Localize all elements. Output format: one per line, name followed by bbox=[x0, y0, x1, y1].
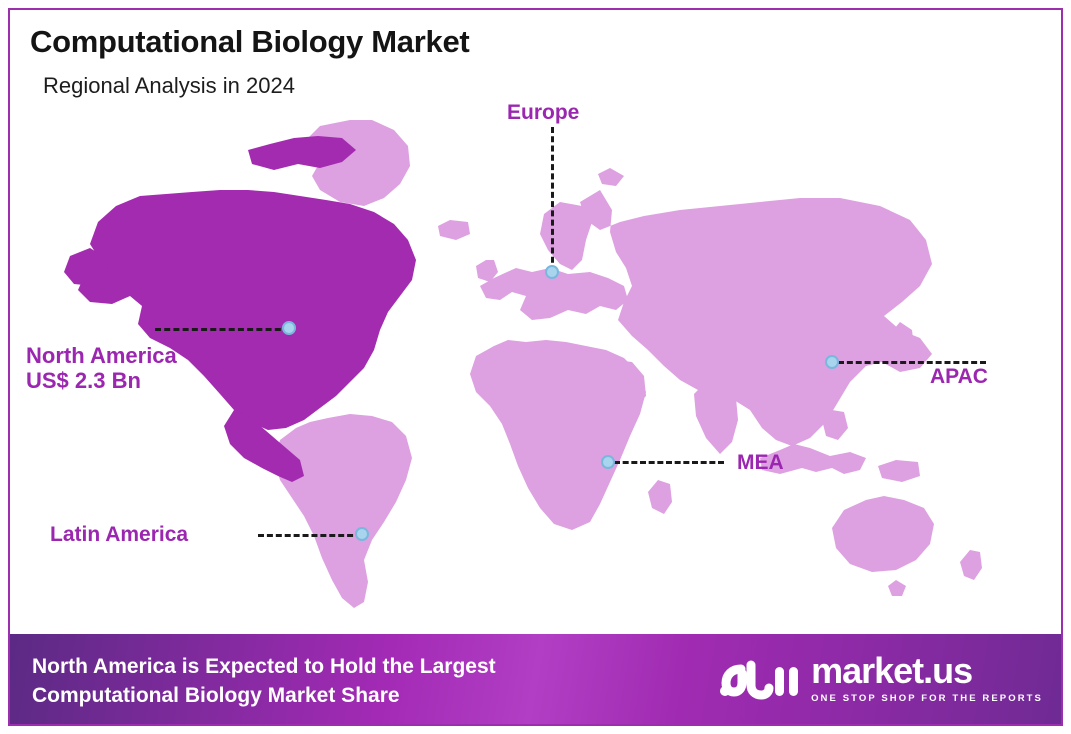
footer-headline-line1: North America is Expected to Hold the La… bbox=[32, 655, 496, 678]
map-base-continents bbox=[274, 120, 982, 608]
north-america-shape bbox=[78, 190, 416, 430]
new-zealand-shape bbox=[960, 550, 982, 580]
tasmania-shape bbox=[888, 580, 906, 596]
footer-headline-line2: Computational Biology Market Share bbox=[32, 684, 400, 707]
world-map-svg bbox=[20, 110, 1020, 610]
south-america-shape bbox=[274, 414, 412, 608]
madagascar-shape bbox=[648, 480, 672, 514]
logo-wordmark: market.us bbox=[811, 653, 972, 689]
footer-headline: North America is Expected to Hold the La… bbox=[32, 653, 496, 711]
logo-text-block: market.us ONE STOP SHOP FOR THE REPORTS bbox=[811, 653, 1043, 704]
india-shape bbox=[694, 382, 738, 454]
world-map-container: North America US$ 2.3 Bn Europe APAC MEA bbox=[10, 10, 1063, 630]
new-guinea-shape bbox=[878, 460, 920, 482]
africa-shape bbox=[470, 340, 646, 530]
iceland-shape bbox=[438, 220, 470, 240]
brand-logo[interactable]: market.us ONE STOP SHOP FOR THE REPORTS bbox=[719, 651, 1043, 704]
svalbard-shape bbox=[598, 168, 624, 186]
infographic-card: Computational Biology Market Regional An… bbox=[8, 8, 1063, 726]
logo-tagline: ONE STOP SHOP FOR THE REPORTS bbox=[811, 693, 1043, 704]
europe-shape bbox=[480, 268, 628, 320]
australia-shape bbox=[832, 496, 934, 572]
footer-banner: North America is Expected to Hold the La… bbox=[10, 634, 1061, 724]
southeast-asia-shape bbox=[760, 444, 866, 474]
market-us-bars-logo-icon bbox=[719, 655, 799, 701]
